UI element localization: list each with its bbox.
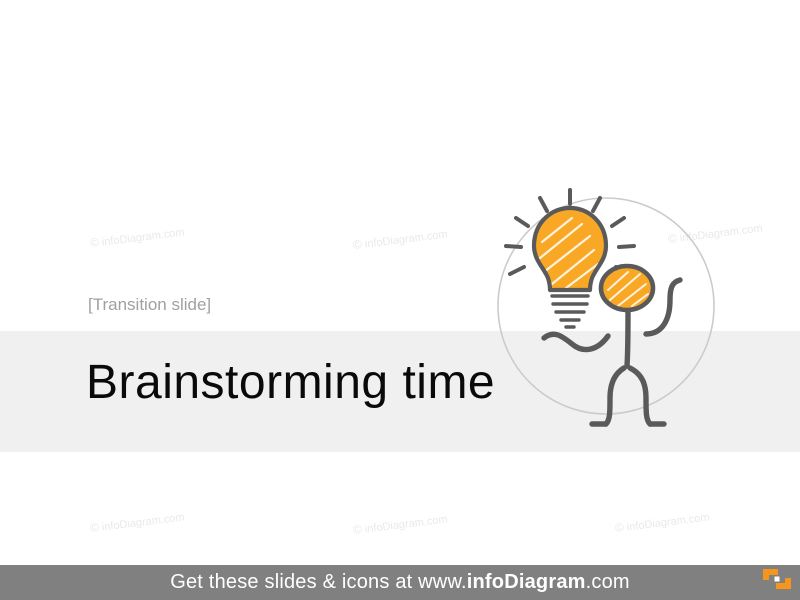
watermark: © infoDiagram.com <box>89 224 185 249</box>
watermark: © infoDiagram.com <box>614 509 710 534</box>
watermark-copyright-icon: © <box>352 237 362 252</box>
infodiagram-logo[interactable] <box>762 564 792 594</box>
footer-lead: Get these slides & icons at www. <box>170 571 467 594</box>
slide-subtitle: [Transition slide] <box>88 295 211 315</box>
watermark-copyright-icon: © <box>352 522 362 537</box>
watermark-label: infoDiagram.com <box>364 228 448 250</box>
watermark: © infoDiagram.com <box>352 226 448 251</box>
watermark-copyright-icon: © <box>614 520 624 535</box>
brainstorming-illustration <box>494 184 718 428</box>
watermark-copyright-icon: © <box>89 520 99 535</box>
watermark: © infoDiagram.com <box>89 509 185 534</box>
watermark-label: infoDiagram.com <box>626 511 710 533</box>
slide-title: Brainstorming time <box>86 355 495 410</box>
watermark-label: infoDiagram.com <box>364 513 448 535</box>
watermark-label: infoDiagram.com <box>101 511 185 533</box>
footer-tld: .com <box>586 571 630 594</box>
watermark: © infoDiagram.com <box>352 511 448 536</box>
footer-brand: infoDiagram <box>467 571 586 594</box>
footer-promo-text: Get these slides & icons at www.infoDiag… <box>0 565 800 600</box>
watermark-copyright-icon: © <box>89 235 99 250</box>
slide-canvas: © infoDiagram.com © infoDiagram.com © in… <box>0 0 800 600</box>
watermark-label: infoDiagram.com <box>101 226 185 248</box>
circle-outline-icon <box>498 198 714 414</box>
logo-center-square-icon <box>775 577 780 582</box>
